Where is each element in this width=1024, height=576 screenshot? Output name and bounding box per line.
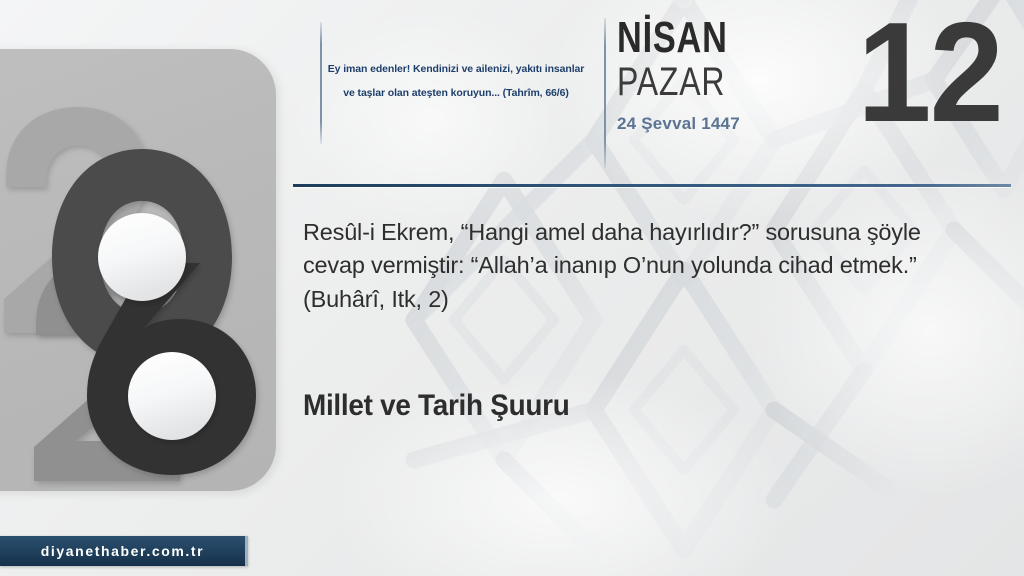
year-logo-panel [0, 49, 276, 491]
content-divider [293, 184, 1011, 187]
date-block: NİSAN PAZAR 24 Şevval 1447 [617, 18, 867, 134]
verse-line-2: ve taşlar olan ateşten koruyun... (Tahrî… [320, 82, 592, 106]
weekday-label: PAZAR [617, 62, 817, 102]
quran-verse: Ey iman edenler! Kendinizi ve ailenizi, … [320, 58, 592, 105]
verse-right-divider [604, 18, 606, 168]
website-url: diyanethaber.com.tr [41, 543, 204, 559]
logo-circle-upper [98, 213, 186, 301]
logo-circle-lower [128, 352, 216, 440]
hijri-date-label: 24 Şevval 1447 [617, 114, 867, 134]
hadith-text: Resûl-i Ekrem, “Hangi amel daha hayırlıd… [303, 216, 928, 316]
topic-title: Millet ve Tarih Şuuru [303, 389, 569, 423]
month-label: NİSAN [617, 18, 812, 58]
verse-line-1: Ey iman edenler! Kendinizi ve ailenizi, … [320, 58, 592, 82]
day-number: 12 [857, 2, 1002, 144]
website-footer-bar[interactable]: diyanethaber.com.tr [0, 536, 248, 566]
year-2026-logo [0, 49, 276, 491]
calendar-page: Ey iman edenler! Kendinizi ve ailenizi, … [0, 0, 1024, 576]
